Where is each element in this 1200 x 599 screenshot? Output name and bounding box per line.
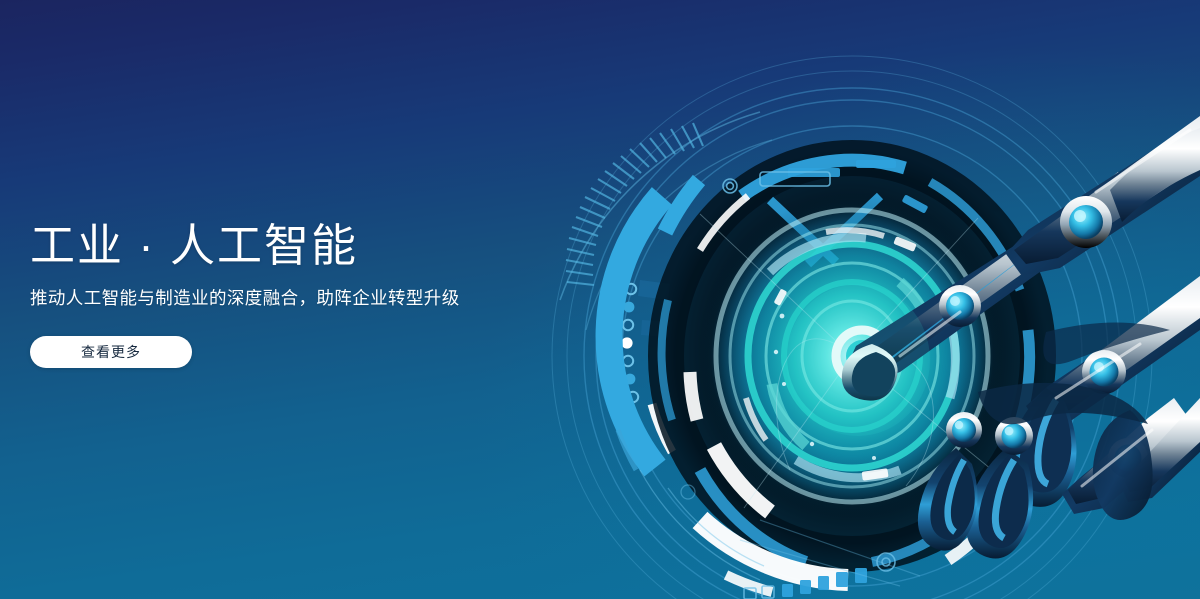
view-more-button[interactable]: 查看更多 bbox=[30, 336, 192, 368]
hero-banner: 工业 · 人工智能 推动人工智能与制造业的深度融合，助阵企业转型升级 查看更多 bbox=[0, 0, 1200, 599]
page-subtitle: 推动人工智能与制造业的深度融合，助阵企业转型升级 bbox=[30, 286, 460, 310]
page-title: 工业 · 人工智能 bbox=[30, 218, 460, 274]
hero-copy-block: 工业 · 人工智能 推动人工智能与制造业的深度融合，助阵企业转型升级 查看更多 bbox=[30, 218, 460, 368]
